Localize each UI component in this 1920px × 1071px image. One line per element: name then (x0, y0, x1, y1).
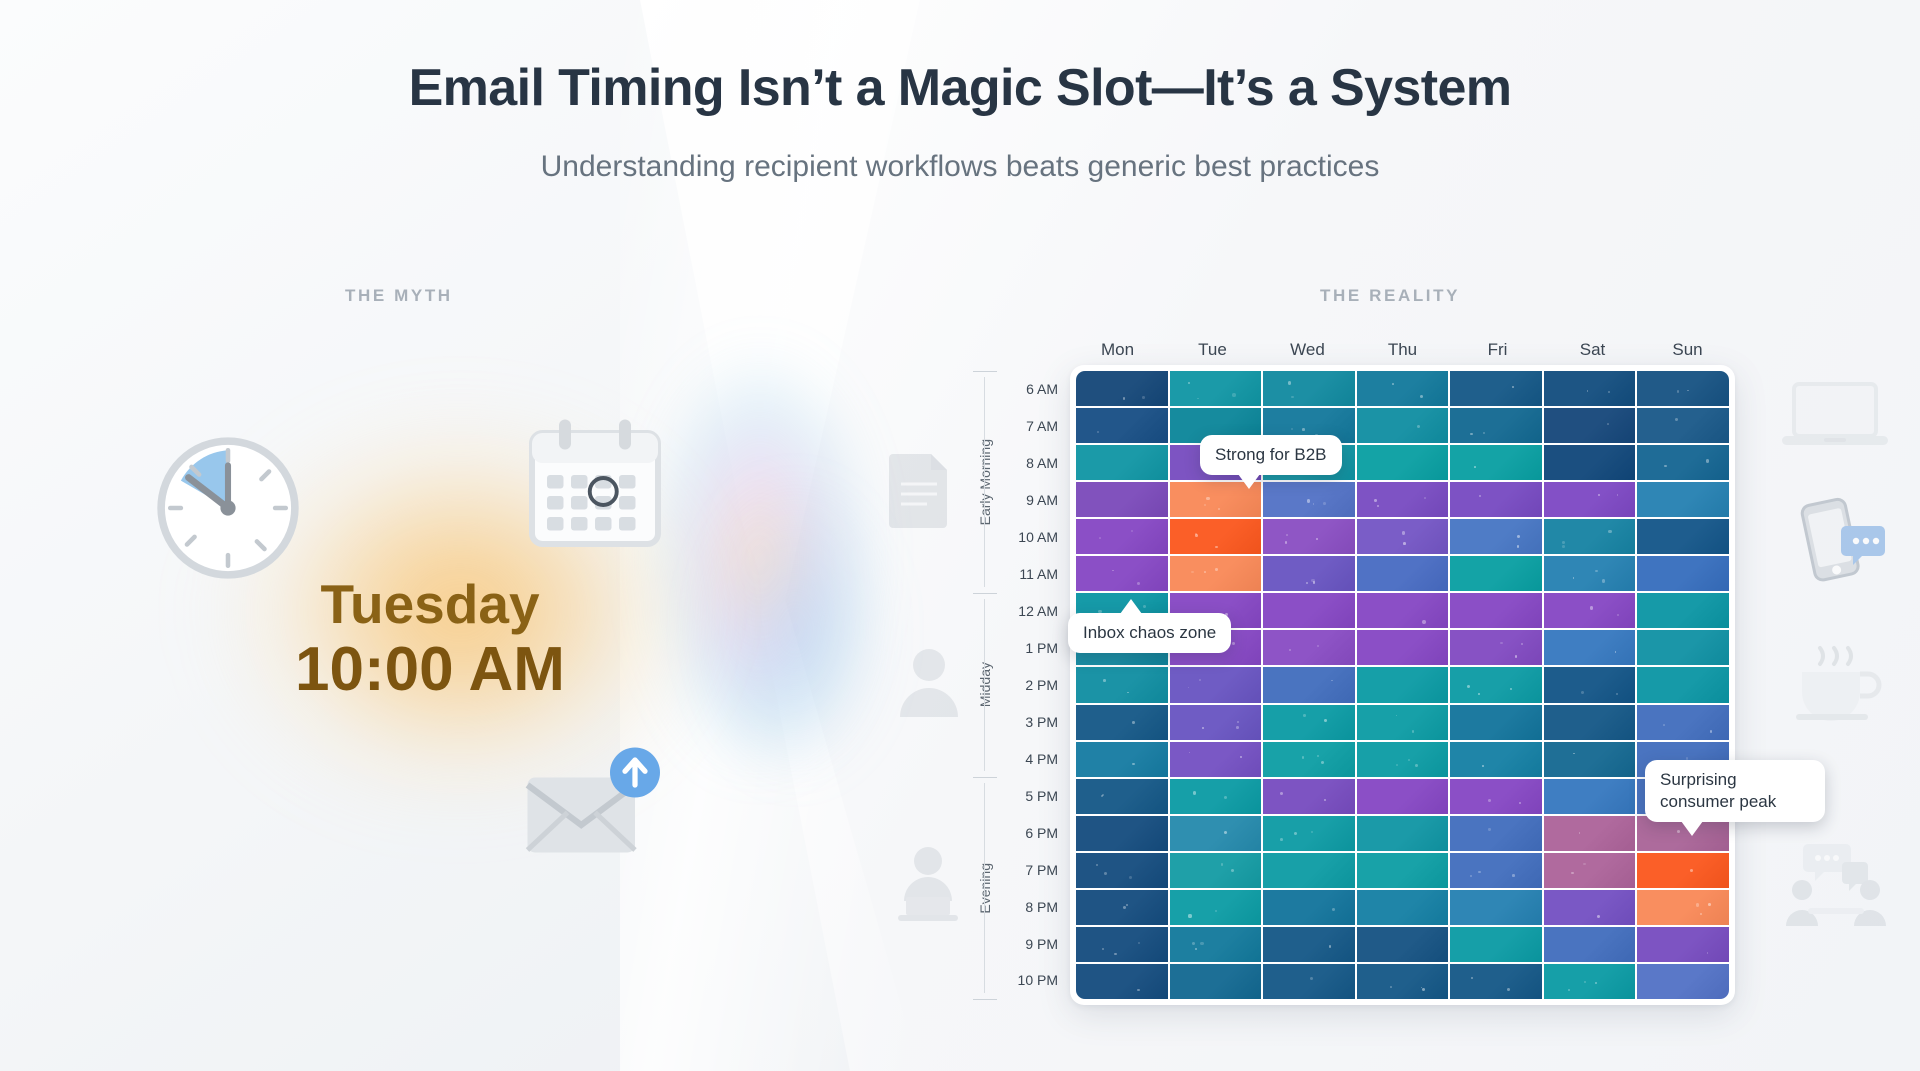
heatmap-cell[interactable] (1637, 519, 1729, 554)
heatmap-cell-speck (1507, 988, 1510, 991)
heatmap-cell[interactable] (1357, 408, 1449, 443)
heatmap-cell-speck (1324, 799, 1326, 801)
heatmap-cell[interactable] (1357, 667, 1449, 702)
heatmap-time-label: 10 PM (1000, 962, 1062, 999)
callout-strong-b2b-text: Strong for B2B (1215, 445, 1327, 464)
heatmap-cell-speck (1512, 386, 1514, 388)
calendar-icon (520, 412, 670, 562)
heatmap-time-label: 8 PM (1000, 888, 1062, 925)
heatmap-cell-speck (1471, 977, 1473, 979)
heatmap-cell[interactable] (1170, 927, 1262, 962)
heatmap-cell[interactable] (1450, 890, 1542, 925)
heatmap-cell-speck (1324, 719, 1327, 722)
heatmap-grid[interactable] (1076, 371, 1729, 999)
heatmap-cell[interactable] (1637, 445, 1729, 480)
heatmap-time-label: 5 PM (1000, 777, 1062, 814)
heatmap-cell-speck (1321, 761, 1325, 765)
heatmap-day-label: Fri (1450, 340, 1545, 360)
heatmap-cell-speck (1584, 981, 1586, 983)
meeting-icon (1778, 838, 1894, 934)
infographic-stage: Email Timing Isn’t a Magic Slot—It’s a S… (0, 0, 1920, 1071)
heatmap-cell[interactable] (1076, 742, 1168, 777)
document-icon (885, 450, 955, 528)
heatmap-time-group: Evening (972, 777, 998, 999)
heatmap-cell[interactable] (1076, 705, 1168, 740)
heatmap-cell-speck (1097, 431, 1099, 433)
heatmap-cell-speck (1390, 986, 1392, 988)
heatmap-cell[interactable] (1544, 482, 1636, 517)
heatmap-cell-speck (1573, 753, 1575, 755)
heatmap-cell-speck (1294, 832, 1297, 835)
heatmap-cell-speck (1478, 693, 1480, 695)
heatmap-cell-speck (1215, 568, 1218, 571)
heatmap-cell[interactable] (1357, 371, 1449, 406)
heatmap-cell[interactable] (1544, 667, 1636, 702)
heatmap-cell-speck (1573, 577, 1575, 579)
heatmap-time-label: 6 AM (1000, 371, 1062, 408)
callout-inbox-chaos-text: Inbox chaos zone (1083, 623, 1216, 642)
heatmap-day-label: Mon (1070, 340, 1165, 360)
heatmap-cell-speck (1396, 764, 1398, 766)
heatmap-cell-speck (1137, 989, 1139, 991)
heatmap-panel (1070, 365, 1735, 1005)
heatmap-cell[interactable] (1076, 890, 1168, 925)
heatmap-cell[interactable] (1357, 890, 1449, 925)
heatmap-cell-speck (1302, 756, 1305, 759)
heatmap-cell[interactable] (1357, 519, 1449, 554)
heatmap-cell-speck (1221, 863, 1224, 866)
heatmap-cell-speck (1132, 721, 1135, 724)
heatmap-cell[interactable] (1544, 853, 1636, 888)
heatmap-cell[interactable] (1263, 742, 1355, 777)
heatmap-cell-speck (1675, 418, 1678, 421)
heatmap-cell-speck (1285, 541, 1288, 544)
heatmap-group-tick (973, 777, 997, 778)
heatmap-cell-speck (1204, 571, 1206, 573)
heatmap-cell-speck (1595, 982, 1597, 984)
heatmap-cell-speck (1202, 727, 1204, 729)
heatmap-cell[interactable] (1544, 556, 1636, 591)
heatmap-cell-speck (1310, 977, 1313, 980)
heatmap-cell[interactable] (1357, 927, 1449, 962)
heatmap-cell-speck (1102, 794, 1104, 796)
heatmap-cell[interactable] (1076, 408, 1168, 443)
heatmap-cell-speck (1687, 390, 1689, 392)
heatmap-cell[interactable] (1637, 556, 1729, 591)
heatmap-cell[interactable] (1450, 816, 1542, 851)
heatmap-cell[interactable] (1076, 853, 1168, 888)
heatmap-cell-speck (1467, 685, 1470, 688)
heatmap-cell[interactable] (1076, 927, 1168, 962)
heatmap-cell-speck (1240, 756, 1242, 758)
heatmap-cell-speck (1562, 545, 1565, 548)
heatmap-time-group: Midday (972, 593, 998, 778)
callout-inbox-chaos[interactable]: Inbox chaos zone (1068, 613, 1231, 653)
heatmap-cell[interactable] (1637, 408, 1729, 443)
heatmap-cell-speck (1302, 428, 1305, 431)
heatmap-cell-speck (1096, 864, 1098, 866)
page-title: Email Timing Isn’t a Magic Slot—It’s a S… (0, 58, 1920, 118)
heatmap-cell-speck (1123, 397, 1125, 399)
heatmap-cell-speck (1236, 726, 1239, 729)
heatmap-cell[interactable] (1357, 705, 1449, 740)
heatmap-cell-speck (1199, 679, 1201, 681)
heatmap-cell[interactable] (1544, 890, 1636, 925)
heatmap-cell-speck (1402, 531, 1405, 534)
heatmap-cell[interactable] (1263, 890, 1355, 925)
heatmap-cell-speck (1131, 530, 1133, 532)
page-subtitle: Understanding recipient workflows beats … (0, 150, 1920, 184)
heatmap-cell[interactable] (1637, 593, 1729, 628)
heatmap-cell[interactable] (1637, 630, 1729, 665)
heatmap-cell[interactable] (1544, 519, 1636, 554)
heatmap-cell[interactable] (1170, 816, 1262, 851)
heatmap-cell-speck (1500, 642, 1502, 644)
heatmap-time-group-label: Midday (977, 662, 993, 707)
heatmap-time-label: 7 AM (1000, 408, 1062, 445)
heatmap-cell-speck (1112, 570, 1114, 572)
person-laptop-icon (890, 845, 966, 925)
heatmap-cell-speck (1193, 791, 1197, 795)
heatmap-group-tick (973, 999, 997, 1000)
heatmap-time-label: 3 PM (1000, 703, 1062, 740)
heatmap-cell-speck (1710, 730, 1713, 733)
heatmap-cell-speck (1231, 869, 1234, 872)
heatmap-cell-speck (1224, 831, 1227, 834)
heatmap-cell[interactable] (1450, 964, 1542, 999)
heatmap-cell[interactable] (1357, 593, 1449, 628)
heatmap-cell-speck (1127, 692, 1129, 694)
heatmap-cell-speck (1311, 831, 1313, 833)
heatmap-cell[interactable] (1544, 630, 1636, 665)
heatmap-time-label: 7 PM (1000, 851, 1062, 888)
heatmap-cell-speck (1143, 605, 1146, 608)
heatmap-cell[interactable] (1076, 667, 1168, 702)
coffee-cup-icon (1788, 638, 1888, 728)
heatmap-time-label: 4 PM (1000, 740, 1062, 777)
person-icon (898, 645, 960, 717)
heatmap-cell-speck (1224, 796, 1227, 799)
heatmap-cell[interactable] (1076, 779, 1168, 814)
wedge-color-tint-secondary (700, 480, 890, 780)
heatmap-cell[interactable] (1450, 742, 1542, 777)
heatmap-cell[interactable] (1170, 890, 1262, 925)
section-label-myth: THE MYTH (345, 286, 453, 306)
heatmap-cell[interactable] (1357, 779, 1449, 814)
heatmap-day-label: Wed (1260, 340, 1355, 360)
heatmap-cell[interactable] (1076, 964, 1168, 999)
myth-highlight: Tuesday 10:00 AM (180, 575, 680, 703)
heatmap-cell[interactable] (1357, 964, 1449, 999)
heatmap-cell[interactable] (1263, 482, 1355, 517)
heatmap-cell-speck (1377, 505, 1379, 507)
heatmap-cell-speck (1403, 542, 1406, 545)
heatmap-cell[interactable] (1357, 742, 1449, 777)
heatmap-cell[interactable] (1637, 705, 1729, 740)
heatmap-cell[interactable] (1637, 964, 1729, 999)
heatmap-cell[interactable] (1544, 964, 1636, 999)
heatmap-cell[interactable] (1076, 556, 1168, 591)
heatmap-cell-speck (1103, 679, 1106, 682)
heatmap-cell[interactable] (1450, 705, 1542, 740)
heatmap-cell[interactable] (1544, 408, 1636, 443)
heatmap-cell-speck (1206, 497, 1209, 500)
heatmap-group-rule (984, 599, 985, 772)
heatmap-time-label: 12 AM (1000, 593, 1062, 630)
heatmap-cell-speck (1286, 534, 1288, 536)
heatmap-cell[interactable] (1450, 482, 1542, 517)
email-send-icon (520, 740, 660, 865)
callout-pointer-down-icon (1681, 821, 1703, 836)
heatmap-cell[interactable] (1076, 482, 1168, 517)
heatmap-cell[interactable] (1357, 853, 1449, 888)
callout-consumer-peak-text: Surprising consumer peak (1660, 770, 1776, 811)
heatmap-time-axis: 6 AM7 AM8 AM9 AM10 AM11 AM12 AM1 PM2 PM3… (1000, 371, 1062, 999)
heatmap-cell[interactable] (1263, 779, 1355, 814)
heatmap-cell-speck (1616, 693, 1618, 695)
heatmap-cell-speck (1329, 945, 1332, 948)
heatmap-cell[interactable] (1450, 593, 1542, 628)
heatmap-cell[interactable] (1637, 667, 1729, 702)
heatmap-cell-speck (1568, 989, 1570, 991)
heatmap-day-axis: MonTueWedThuFriSatSun (1070, 340, 1735, 360)
heatmap-cell[interactable] (1450, 630, 1542, 665)
heatmap-cell-speck (1114, 953, 1117, 956)
heatmap-cell-speck (1332, 908, 1335, 911)
heatmap-cell-speck (1562, 541, 1565, 544)
heatmap-cell-speck (1617, 614, 1619, 616)
heatmap-cell-speck (1470, 875, 1472, 877)
heatmap-cell-speck (1417, 425, 1420, 428)
heatmap-cell[interactable] (1637, 927, 1729, 962)
heatmap-cell-speck (1422, 620, 1426, 624)
heatmap-time-label: 9 PM (1000, 925, 1062, 962)
heatmap-cell-speck (1303, 714, 1306, 717)
heatmap-cell[interactable] (1263, 927, 1355, 962)
heatmap-cell-speck (1123, 906, 1127, 910)
heatmap-cell-speck (1104, 872, 1107, 875)
heatmap-cell-speck (1488, 828, 1490, 830)
heatmap-cell[interactable] (1170, 556, 1262, 591)
heatmap-cell[interactable] (1357, 482, 1449, 517)
heatmap-cell[interactable] (1544, 779, 1636, 814)
heatmap-cell[interactable] (1357, 556, 1449, 591)
heatmap-cell-speck (1191, 571, 1194, 574)
heatmap-cell-speck (1515, 655, 1518, 658)
heatmap-day-label: Thu (1355, 340, 1450, 360)
heatmap-cell[interactable] (1450, 927, 1542, 962)
heatmap-cell-speck (1280, 838, 1283, 841)
heatmap-cell[interactable] (1263, 816, 1355, 851)
heatmap-cell[interactable] (1450, 779, 1542, 814)
heatmap-cell[interactable] (1263, 705, 1355, 740)
heatmap-cell[interactable] (1450, 408, 1542, 443)
heatmap-time-group-label: Early Morning (977, 439, 993, 525)
heatmap-cell-speck (1677, 390, 1680, 393)
heatmap-cell-speck (1288, 381, 1291, 384)
heatmap-cell-speck (1195, 534, 1198, 537)
heatmap-cell-speck (1289, 649, 1292, 652)
heatmap-cell-speck (1316, 538, 1318, 540)
heatmap-cell-speck (1483, 432, 1485, 434)
heatmap-cell-speck (1142, 396, 1145, 399)
heatmap-time-group: Early Morning (972, 371, 998, 593)
callout-consumer-peak[interactable]: Surprising consumer peak (1645, 760, 1825, 822)
heatmap-cell[interactable] (1170, 519, 1262, 554)
heatmap-cell-speck (1188, 382, 1190, 384)
heatmap-cell-speck (1313, 503, 1315, 505)
heatmap-cell[interactable] (1544, 705, 1636, 740)
heatmap-cell-speck (1218, 508, 1221, 511)
heatmap-cell-speck (1215, 546, 1218, 549)
heatmap-cell-speck (1307, 499, 1310, 502)
heatmap-cell[interactable] (1544, 371, 1636, 406)
heatmap-cell[interactable] (1357, 816, 1449, 851)
heatmap-cell-speck (1396, 715, 1398, 717)
heatmap-cell-speck (1215, 910, 1217, 912)
heatmap-cell-speck (1706, 459, 1710, 463)
heatmap-group-tick (973, 371, 997, 372)
heatmap-cell-speck (1424, 497, 1426, 499)
heatmap-cell[interactable] (1076, 445, 1168, 480)
heatmap-cell-speck (1663, 724, 1665, 726)
heatmap-cell[interactable] (1170, 705, 1262, 740)
heatmap-cell-speck (1517, 545, 1520, 548)
heatmap-cell-speck (1470, 433, 1473, 436)
heatmap-cell-speck (1696, 903, 1699, 906)
heatmap-cell-speck (1521, 643, 1523, 645)
heatmap-time-label: 9 AM (1000, 482, 1062, 519)
heatmap-cell[interactable] (1637, 890, 1729, 925)
heatmap-cell[interactable] (1170, 667, 1262, 702)
heatmap-cell-speck (1581, 691, 1584, 694)
heatmap-cell[interactable] (1170, 964, 1262, 999)
heatmap-cell[interactable] (1263, 556, 1355, 591)
heatmap-cell[interactable] (1357, 445, 1449, 480)
heatmap-cell-speck (1512, 874, 1515, 877)
heatmap-cell[interactable] (1170, 371, 1262, 406)
heatmap-cell[interactable] (1263, 371, 1355, 406)
heatmap-cell[interactable] (1263, 853, 1355, 888)
heatmap-cell[interactable] (1357, 630, 1449, 665)
heatmap-cell[interactable] (1170, 742, 1262, 777)
heatmap-cell-speck (1306, 582, 1308, 584)
heatmap-cell[interactable] (1544, 742, 1636, 777)
heatmap-cell-speck (1291, 396, 1294, 399)
heatmap-cell-speck (1232, 642, 1235, 645)
heatmap-cell-speck (1598, 494, 1600, 496)
heatmap-cell-speck (1579, 832, 1581, 834)
heatmap-cell[interactable] (1544, 927, 1636, 962)
heatmap-cell-speck (1317, 645, 1319, 647)
heatmap-cell-speck (1126, 904, 1128, 906)
heatmap-group-tick (973, 593, 997, 594)
heatmap-cell-speck (1597, 915, 1600, 918)
heatmap-cell-speck (1137, 582, 1140, 585)
heatmap-cell[interactable] (1263, 519, 1355, 554)
heatmap-cell-speck (1138, 942, 1140, 944)
heatmap-cell-speck (1583, 863, 1585, 865)
heatmap-cell[interactable] (1263, 593, 1355, 628)
heatmap-cell-speck (1192, 942, 1195, 945)
heatmap-cell-speck (1415, 764, 1419, 768)
heatmap-cell[interactable] (1450, 445, 1542, 480)
heatmap-cell[interactable] (1450, 519, 1542, 554)
heatmap-cell-speck (1420, 395, 1423, 398)
heatmap-cell-speck (1129, 876, 1132, 879)
heatmap-cell[interactable] (1450, 853, 1542, 888)
heatmap-cell[interactable] (1076, 371, 1168, 406)
section-label-reality: THE REALITY (1320, 286, 1460, 306)
heatmap-time-label: 2 PM (1000, 667, 1062, 704)
heatmap-cell[interactable] (1637, 482, 1729, 517)
heatmap-cell-speck (1608, 530, 1611, 533)
heatmap-cell[interactable] (1263, 630, 1355, 665)
heatmap-cell-speck (1408, 759, 1410, 761)
heatmap-cell-speck (1510, 688, 1513, 691)
heatmap-cell-speck (1488, 799, 1492, 803)
heatmap-group-rule (984, 783, 985, 993)
callout-pointer-down-icon (1238, 474, 1260, 489)
heatmap-cell-speck (1232, 393, 1236, 397)
heatmap-cell-speck (1571, 872, 1573, 874)
heatmap-cell[interactable] (1637, 371, 1729, 406)
heatmap-time-label: 6 PM (1000, 814, 1062, 851)
heatmap-cell[interactable] (1450, 556, 1542, 591)
heatmap-cell-speck (1189, 752, 1191, 754)
heatmap-cell-speck (1482, 765, 1484, 767)
myth-day-label: Tuesday (180, 575, 680, 633)
phone-message-icon (1790, 490, 1886, 586)
heatmap-cell-speck (1677, 830, 1680, 833)
heatmap-cell-speck (1237, 721, 1239, 723)
myth-time-label: 10:00 AM (180, 637, 680, 703)
heatmap-cell-speck (1707, 952, 1709, 954)
heatmap-cell[interactable] (1170, 779, 1262, 814)
heatmap-time-label: 10 AM (1000, 519, 1062, 556)
heatmap-day-label: Sat (1545, 340, 1640, 360)
heatmap-cell-speck (1519, 802, 1521, 804)
heatmap-cell[interactable] (1263, 667, 1355, 702)
heatmap-time-label: 8 AM (1000, 445, 1062, 482)
heatmap-cell[interactable] (1076, 816, 1168, 851)
heatmap-cell[interactable] (1544, 593, 1636, 628)
heatmap-cell-speck (1590, 606, 1594, 610)
heatmap-cell[interactable] (1263, 964, 1355, 999)
heatmap-cell[interactable] (1170, 853, 1262, 888)
heatmap-cell[interactable] (1076, 519, 1168, 554)
heatmap-cell[interactable] (1544, 445, 1636, 480)
heatmap-cell-speck (1602, 579, 1605, 582)
heatmap-cell-speck (1311, 579, 1315, 583)
heatmap-cell[interactable] (1450, 667, 1542, 702)
laptop-icon (1780, 380, 1890, 452)
heatmap-cell[interactable] (1637, 853, 1729, 888)
heatmap-cell-speck (1474, 466, 1476, 468)
heatmap-day-label: Sun (1640, 340, 1735, 360)
callout-strong-b2b[interactable]: Strong for B2B (1200, 435, 1342, 475)
heatmap-cell-speck (1374, 499, 1377, 502)
heatmap-cell-speck (1617, 494, 1619, 496)
heatmap-cell-speck (1700, 913, 1702, 915)
callout-pointer-up-icon (1120, 599, 1142, 614)
heatmap-cell[interactable] (1544, 816, 1636, 851)
heatmap-cell-speck (1708, 903, 1711, 906)
heatmap-cell[interactable] (1450, 371, 1542, 406)
heatmap-cell-speck (1412, 730, 1414, 732)
heatmap-cell-speck (1478, 871, 1480, 873)
heatmap-day-label: Tue (1165, 340, 1260, 360)
